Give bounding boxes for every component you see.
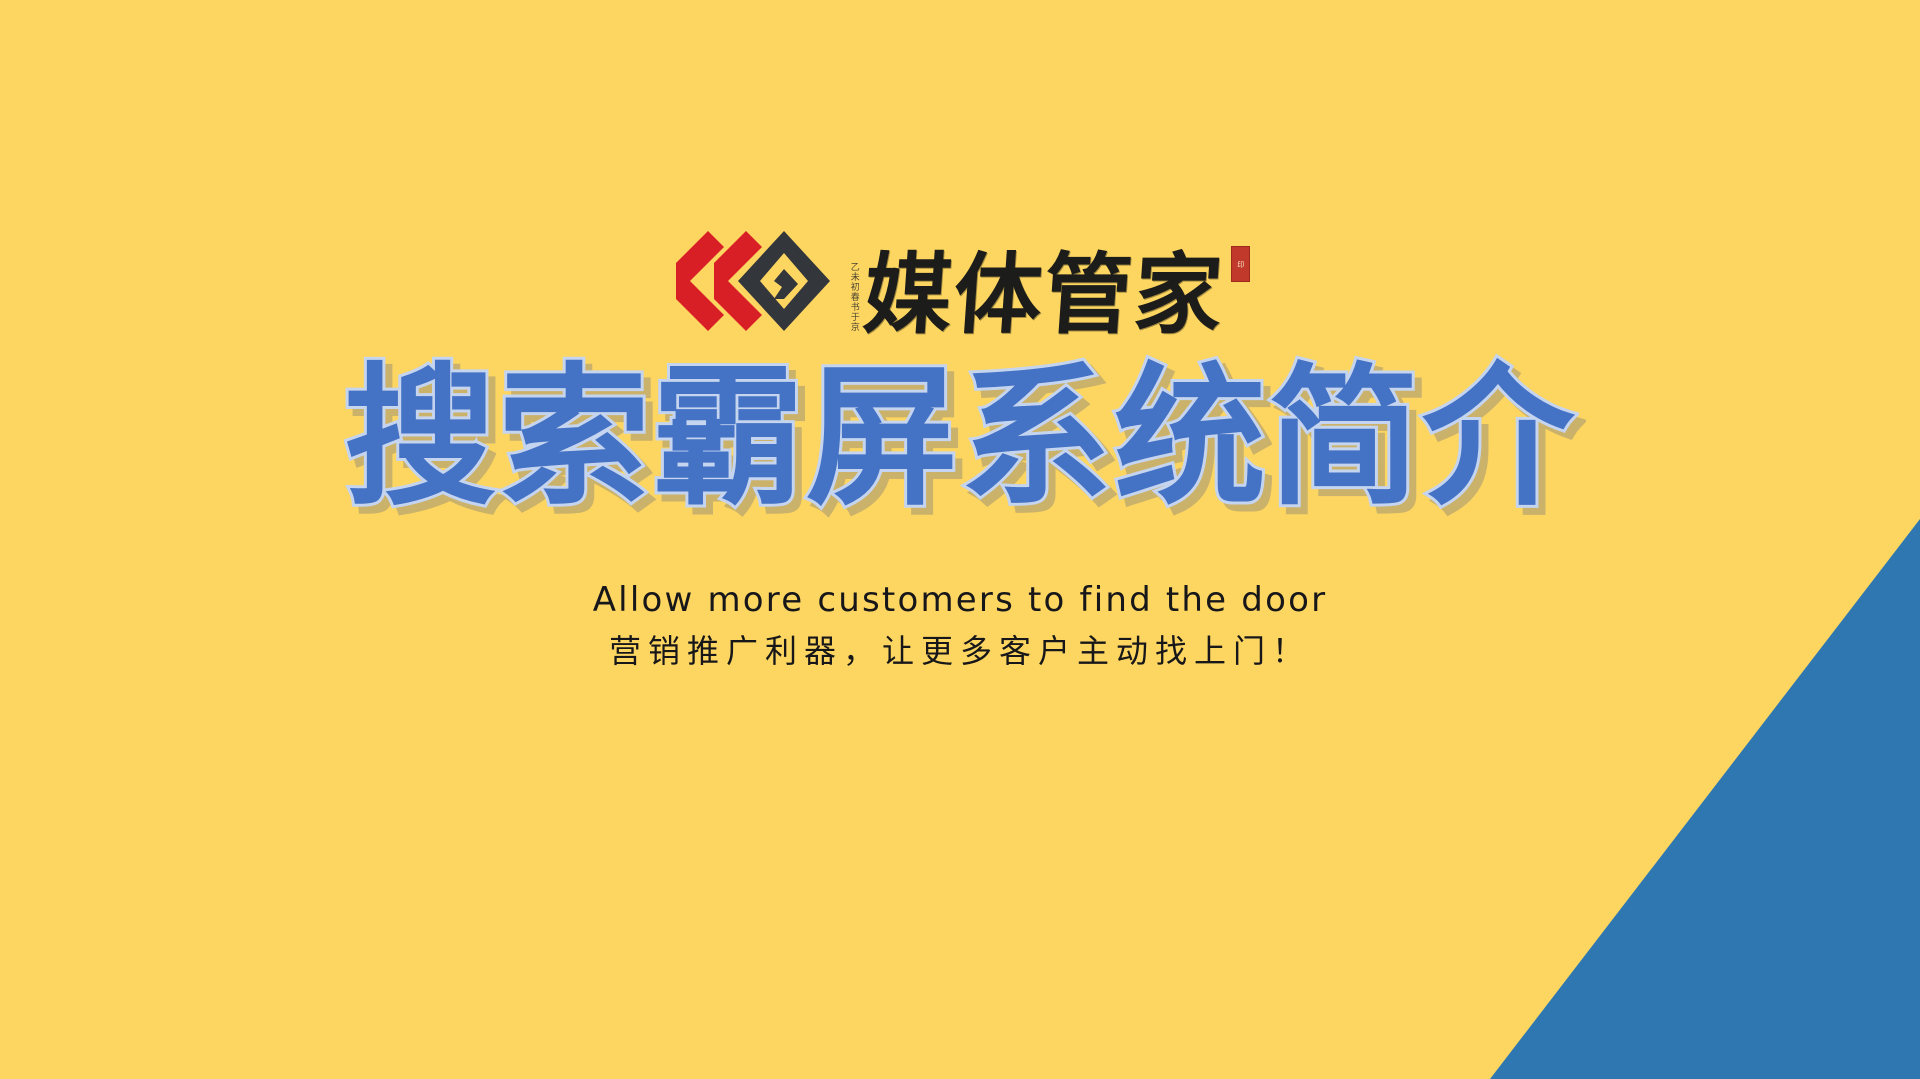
red-seal-stamp-icon: 印 [1231, 246, 1250, 282]
double-chevron-diamond-logo-icon [670, 229, 830, 337]
subtitle-block: Allow more customers to find the door 营销… [0, 580, 1920, 672]
subtitle-english: Allow more customers to find the door [0, 580, 1920, 620]
brand-wordmark: 乙未初春书于京 媒体管家 印 [848, 228, 1249, 338]
page-title: 搜索霸屏系统简介 [0, 360, 1920, 515]
logo-lockup: 乙未初春书于京 媒体管家 印 [0, 228, 1920, 338]
presentation-slide: 乙未初春书于京 媒体管家 印 搜索霸屏系统简介 Allow more custo… [0, 0, 1920, 1079]
subtitle-chinese: 营销推广利器，让更多客户主动找上门！ [0, 626, 1920, 672]
brand-calligraphy-text: 媒体管家 [861, 250, 1227, 338]
calligraphy-side-inscription: 乙未初春书于京 [848, 262, 857, 332]
seal-stamp-text: 印 [1237, 261, 1244, 268]
